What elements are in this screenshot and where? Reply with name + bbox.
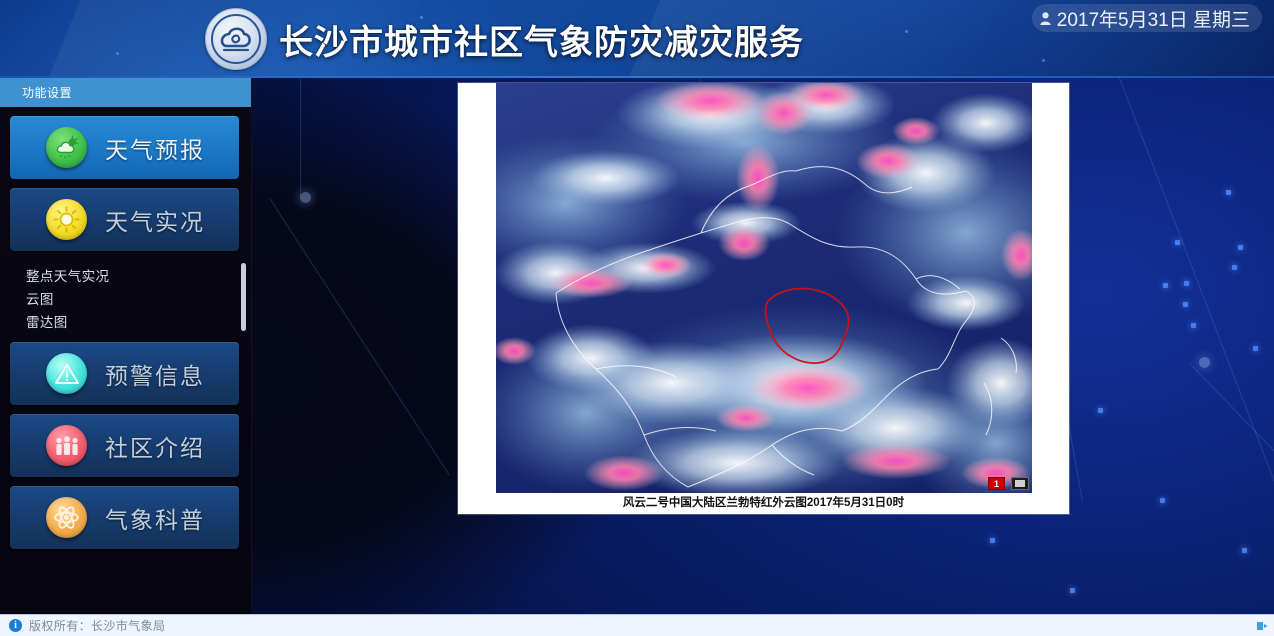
bg-network-dot [990,538,995,543]
image-badge-count[interactable]: 1 [988,477,1005,490]
date-display: 2017年5月31日 星期三 [1032,4,1262,32]
bg-network-dot [1163,283,1168,288]
bg-network-line [1189,363,1274,579]
brand-block: 长沙市城市社区气象防灾减灾服务 [205,0,804,78]
sidebar-item-weather-forecast[interactable]: 天气预报 [10,116,239,179]
bg-network-dot [1160,498,1165,503]
cma-emblem-icon [205,8,267,70]
bg-network-dot [1098,408,1103,413]
bg-network-line [300,78,301,196]
bg-network-dot [1238,245,1243,250]
sidebar-item-weather-live[interactable]: 天气实况 [10,188,239,251]
bg-network-dot [1232,265,1237,270]
header-sparkle [1042,59,1045,62]
people-group-icon [46,425,87,466]
image-caption: 风云二号中国大陆区兰勃特红外云图2017年5月31日0时 [458,494,1069,510]
page-footer: i 版权所有：长沙市气象局 [0,614,1274,636]
satellite-cloud-image-graphic [496,83,1032,493]
bg-network-node [300,192,311,203]
sidebar-item-community-intro[interactable]: 社区介绍 [10,414,239,477]
broken-image-glyph [1015,480,1025,487]
resize-corner-icon[interactable] [1256,620,1268,632]
bg-network-dot [1183,302,1188,307]
satellite-cloud-image[interactable]: 1 [496,83,1032,493]
copyright-text: 版权所有：长沙市气象局 [29,617,165,634]
bg-network-node [1199,357,1210,368]
broken-image-icon[interactable] [1011,477,1029,490]
atom-icon [46,497,87,538]
bg-network-dot [1070,588,1075,593]
bg-network-dot [1253,346,1258,351]
date-text: 2017年5月31日 星期三 [1057,5,1250,32]
warning-triangle-icon [46,353,87,394]
bg-network-dot [1242,548,1247,553]
content-panel: 1 风云二号中国大陆区兰勃特红外云图2017年5月31日0时 [458,83,1069,514]
sidebar-item-warning-info[interactable]: 预警信息 [10,342,239,405]
bg-network-dot [1175,240,1180,245]
header-sparkle [905,30,908,33]
sidebar-item-label: 预警信息 [105,357,205,391]
sidebar-item-label: 气象科普 [105,501,205,535]
sidebar-panel-title: 功能设置 [0,78,251,107]
submenu-scrollbar[interactable] [241,263,246,331]
submenu-item-hourly-observation[interactable]: 整点天气实况 [26,265,251,288]
sidebar-item-label: 天气实况 [105,203,205,237]
page-header: 长沙市城市社区气象防灾减灾服务 2017年5月31日 星期三 [0,0,1274,78]
bg-network-dot [1184,281,1189,286]
sidebar-item-meteorology-science[interactable]: 气象科普 [10,486,239,549]
person-icon [1040,12,1051,25]
header-sparkle [116,52,119,55]
bg-network-dot [1226,190,1231,195]
sidebar-item-label: 社区介绍 [105,429,205,463]
application-window: 长沙市城市社区气象防灾减灾服务 2017年5月31日 星期三 [0,0,1274,636]
bg-network-line [269,198,450,475]
sidebar: 功能设置 天气预报 [0,78,252,614]
sidebar-submenu: 整点天气实况 云图 雷达图 [0,261,251,333]
submenu-item-radar-map[interactable]: 雷达图 [26,311,251,334]
page-title: 长沙市城市社区气象防灾减灾服务 [279,15,804,64]
cma-swirl-glyph [219,24,253,54]
bg-network-dot [1191,323,1196,328]
info-icon: i [9,619,22,632]
sidebar-item-label: 天气预报 [105,131,205,165]
cloud-sun-rain-icon [46,127,87,168]
sidebar-panel-title-label: 功能设置 [22,84,72,101]
sun-icon [46,199,87,240]
submenu-item-cloud-map[interactable]: 云图 [26,288,251,311]
bg-network-line [1119,78,1274,564]
